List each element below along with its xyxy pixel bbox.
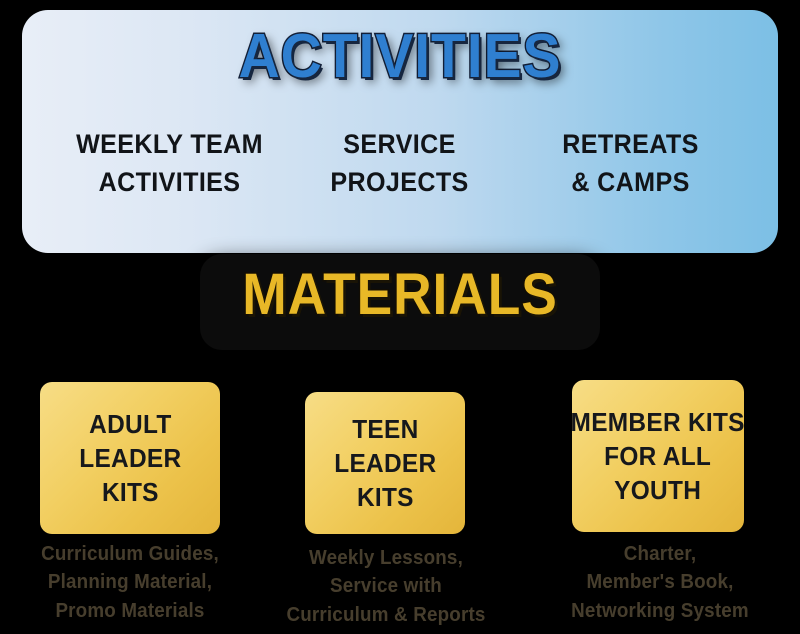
kit-caption-teen-leader-kits: Weekly Lessons, Service with Curriculum …: [275, 544, 497, 629]
kit-label-line: ADULT: [79, 407, 181, 441]
kit-label-line: LEADER: [79, 441, 181, 475]
kit-label-line: YOUTH: [571, 473, 745, 507]
activities-column-line: ACTIVITIES: [64, 164, 275, 202]
activities-column-retreats-and-camps: RETREATS & CAMPS: [525, 126, 736, 202]
kit-label: TEEN LEADER KITS: [334, 412, 436, 515]
kit-caption-line: Member's Book,: [562, 568, 758, 596]
kit-caption-line: Service with: [275, 572, 497, 600]
activities-panel: ACTIVITIES WEEKLY TEAM ACTIVITIES SERVIC…: [22, 10, 778, 253]
kit-caption-line: Networking System: [562, 597, 758, 625]
kit-caption-line: Charter,: [562, 540, 758, 568]
kit-box-teen-leader-kits: TEEN LEADER KITS: [305, 392, 465, 534]
kit-label-line: LEADER: [334, 446, 436, 480]
materials-title: MATERIALS: [216, 266, 584, 324]
activities-column-line: & CAMPS: [525, 164, 736, 202]
activities-column-weekly-team-activities: WEEKLY TEAM ACTIVITIES: [64, 126, 275, 202]
activities-column-line: SERVICE: [294, 126, 505, 164]
kit-label-line: MEMBER KITS: [571, 405, 745, 439]
infographic-canvas: ACTIVITIES WEEKLY TEAM ACTIVITIES SERVIC…: [0, 0, 800, 634]
kit-label-line: KITS: [334, 480, 436, 514]
kit-label-line: TEEN: [334, 412, 436, 446]
kit-box-member-kits-for-all-youth: MEMBER KITS FOR ALL YOUTH: [572, 380, 744, 532]
activities-column-service-projects: SERVICE PROJECTS: [294, 126, 505, 202]
kit-caption-member-kits-for-all-youth: Charter, Member's Book, Networking Syste…: [562, 540, 758, 625]
kit-caption-line: Curriculum & Reports: [275, 601, 497, 629]
materials-banner: MATERIALS: [200, 254, 600, 350]
activities-title: ACTIVITIES: [52, 26, 748, 88]
kit-caption-line: Weekly Lessons,: [275, 544, 497, 572]
kit-label-line: KITS: [79, 475, 181, 509]
kit-label: ADULT LEADER KITS: [79, 407, 181, 510]
kit-caption-adult-leader-kits: Curriculum Guides, Planning Material, Pr…: [27, 540, 234, 625]
activities-column-line: RETREATS: [525, 126, 736, 164]
kit-caption-line: Promo Materials: [27, 597, 234, 625]
kit-caption-line: Curriculum Guides,: [27, 540, 234, 568]
kit-label-line: FOR ALL: [571, 439, 745, 473]
activities-column-line: PROJECTS: [294, 164, 505, 202]
kit-box-adult-leader-kits: ADULT LEADER KITS: [40, 382, 220, 534]
kit-label: MEMBER KITS FOR ALL YOUTH: [571, 405, 745, 508]
kit-caption-line: Planning Material,: [27, 568, 234, 596]
activities-columns: WEEKLY TEAM ACTIVITIES SERVICE PROJECTS …: [22, 126, 778, 202]
activities-column-line: WEEKLY TEAM: [64, 126, 275, 164]
